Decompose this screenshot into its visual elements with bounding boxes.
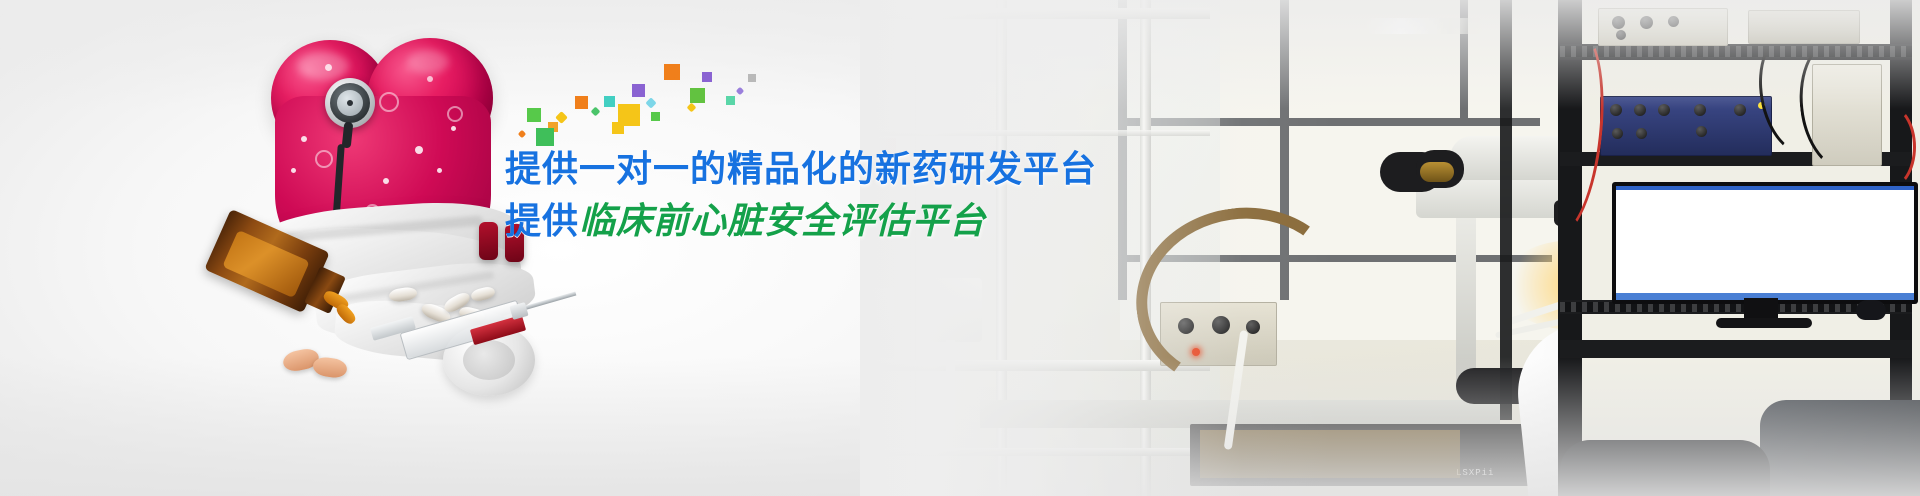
red-capsule <box>479 222 498 260</box>
medical-cross-sparkle <box>575 96 588 109</box>
heart-highlight <box>427 76 433 82</box>
medical-cross-sparkle <box>536 128 554 146</box>
heart-bubble <box>447 106 463 122</box>
medical-cross-sparkle <box>690 88 705 103</box>
medical-cross-sparkle <box>527 108 541 122</box>
heart-highlight <box>437 168 442 173</box>
syringe-hub <box>509 302 528 320</box>
medical-cross-sparkle <box>664 64 680 80</box>
medical-cross-sparkle <box>726 96 735 105</box>
heart-gloss <box>297 52 349 80</box>
hero-banner: LSXPii <box>0 0 1920 496</box>
medical-cross-sparkle <box>618 104 640 126</box>
heart-highlight <box>383 178 389 184</box>
medical-cross-sparkle <box>651 112 660 121</box>
heart-highlight <box>301 136 307 142</box>
headline-line-1: 提供一对一的精品化的新药研发平台 <box>505 148 1097 190</box>
heart-highlight <box>451 126 456 131</box>
heart-gloss <box>407 50 449 74</box>
stethoscope-center <box>347 100 353 106</box>
medical-cross-sparkle <box>748 74 756 82</box>
gauze-roll-core <box>463 340 515 380</box>
headline-line-2-prefix: 提供 <box>505 200 579 241</box>
medical-cross-sparkle <box>604 96 615 107</box>
headline-line-2: 提供临床前心脏安全评估平台 <box>505 200 1097 242</box>
medical-cross-sparkle <box>702 72 712 82</box>
peach-capsule <box>312 356 348 380</box>
heart-bubble <box>379 92 399 112</box>
heart-highlight <box>415 146 423 154</box>
medical-cross-sparkle <box>632 84 645 97</box>
headline-block: 提供一对一的精品化的新药研发平台 提供临床前心脏安全评估平台 <box>505 148 1097 243</box>
heart-highlight <box>291 168 296 173</box>
heart-bubble <box>315 150 333 168</box>
headline-line-2-highlight: 临床前心脏安全评估平台 <box>579 200 986 241</box>
